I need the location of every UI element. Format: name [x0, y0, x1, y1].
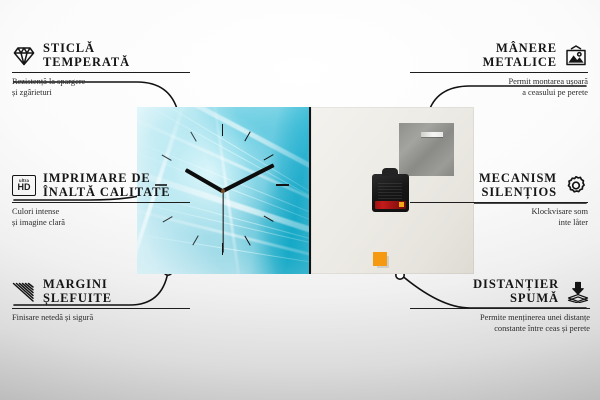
clock-center-pin [221, 189, 225, 193]
metal-hanger-plate [399, 123, 454, 176]
callout-divider [410, 202, 588, 203]
callout-sticla-temperata: STICLĂ TEMPERATĂ Rezistență la spargere … [12, 42, 190, 99]
callout-subtitle-line1: Permite menținerea unei distanțe [410, 312, 590, 323]
callout-title-line2: METALICE [483, 56, 557, 70]
callout-title-line1: MARGINI [43, 278, 112, 292]
callout-subtitle-line1: Rezistență la spargere [12, 76, 190, 87]
callout-title-line1: STICLĂ [43, 42, 130, 56]
callout-mecanism-silentios: MECANISM SILENȚIOS Klockvisare som inte … [410, 172, 588, 229]
foam-spacer-icon [566, 281, 590, 303]
foam-spacer-pad [373, 252, 387, 266]
callout-subtitle-line2: și imagine clară [12, 217, 190, 228]
callout-divider [410, 308, 590, 309]
callout-subtitle-line1: Permit montarea ușoară [410, 76, 588, 87]
callout-subtitle-line2: inte låter [410, 217, 588, 228]
gear-icon [564, 175, 588, 197]
callout-divider [12, 308, 190, 309]
mechanism-housing-detail [378, 183, 402, 199]
clock-second-hand [222, 191, 223, 253]
clock-mechanism [372, 174, 409, 212]
battery-plus-terminal [399, 202, 404, 207]
ultra-hd-icon: ultra HD [12, 175, 36, 196]
callout-title-line1: IMPRIMARE DE [43, 172, 171, 186]
callout-title-line2: SILENȚIOS [479, 186, 557, 200]
callout-title-line2: ÎNALTĂ CALITATE [43, 186, 171, 200]
clock-tick [276, 184, 289, 186]
callout-margini-slefuite: MARGINI ȘLEFUITE Finisare netedă și sigu… [12, 278, 190, 323]
callout-title-line2: SPUMĂ [473, 292, 559, 306]
picture-hanger-icon [564, 45, 588, 67]
callout-subtitle-line2: constante între ceas și perete [410, 323, 590, 334]
callout-subtitle-line2: și zgârieturi [12, 87, 190, 98]
callout-imprimare-hd: ultra HD IMPRIMARE DE ÎNALTĂ CALITATE Cu… [12, 172, 190, 229]
callout-divider [12, 202, 190, 203]
callout-subtitle-line2: a ceasului pe perete [410, 87, 588, 98]
callout-subtitle-line1: Klockvisare som [410, 206, 588, 217]
ultra-hd-icon-large-text: HD [18, 183, 31, 192]
beveled-edge-icon [12, 281, 36, 303]
callout-subtitle-line1: Culori intense [12, 206, 190, 217]
clock-tick [222, 124, 223, 136]
callout-distantier-spuma: DISTANȚIER SPUMĂ Permite menținerea unei… [410, 278, 590, 335]
clock-tick [264, 154, 274, 161]
battery [375, 201, 406, 209]
callout-title-line1: MÂNERE [483, 42, 557, 56]
mechanism-hanger-tab [382, 168, 398, 176]
diamond-icon [12, 45, 36, 67]
callout-manere-metalice: MÂNERE METALICE Permit montarea ușoară a… [410, 42, 588, 99]
callout-title-line2: ȘLEFUITE [43, 292, 112, 306]
callout-divider [410, 72, 588, 73]
callout-title-line2: TEMPERATĂ [43, 56, 130, 70]
callout-title-line1: DISTANȚIER [473, 278, 559, 292]
hanger-slot [421, 132, 443, 137]
callout-title-line1: MECANISM [479, 172, 557, 186]
callout-divider [12, 72, 190, 73]
callout-subtitle-line1: Finisare netedă și sigură [12, 312, 190, 323]
